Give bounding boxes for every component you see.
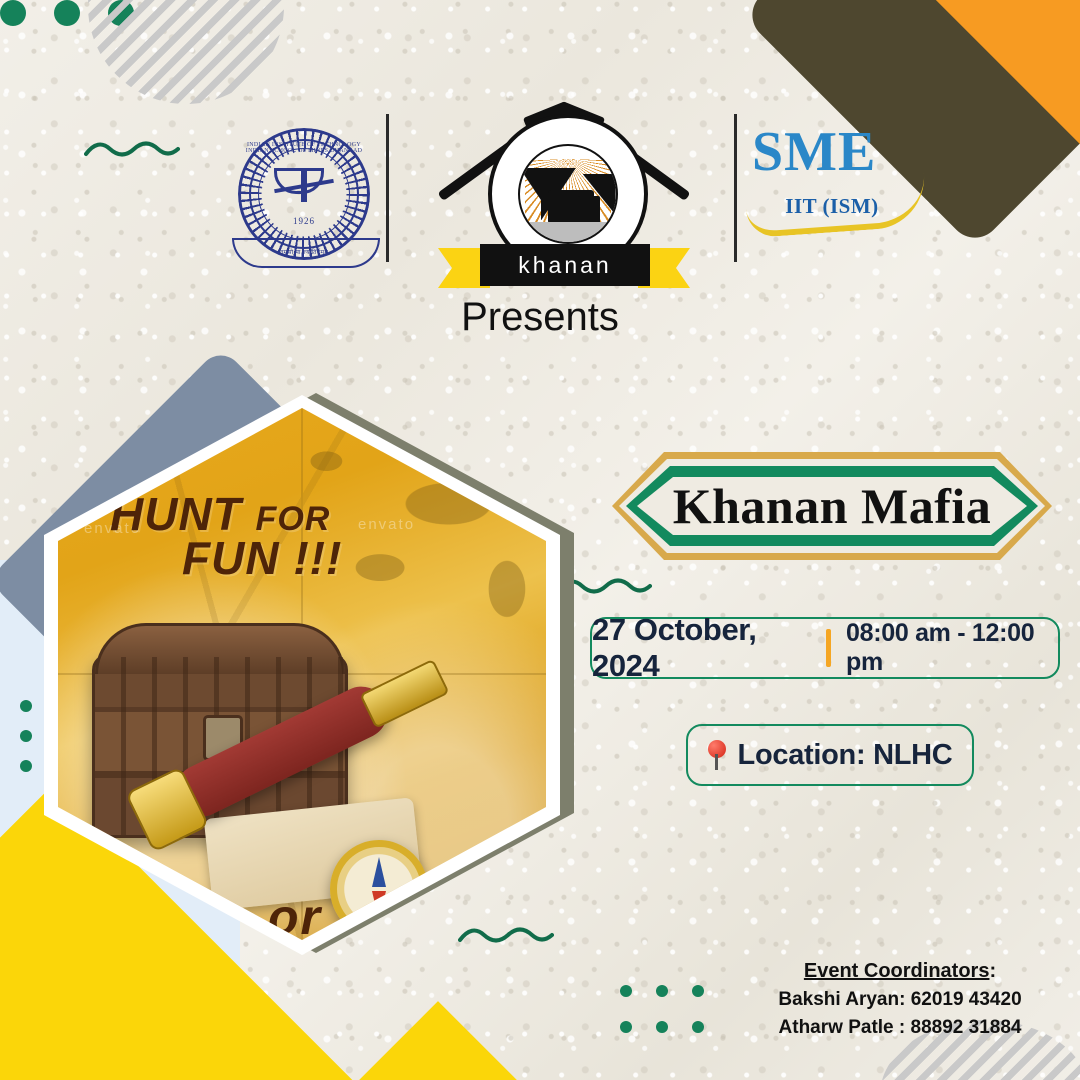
coordinator-entry: Bakshi Aryan: 62019 43420 <box>770 989 1030 1011</box>
event-datetime-bar: 27 October, 2024 08:00 am - 12:00 pm <box>590 617 1060 679</box>
wave-decoration-bottom <box>458 922 554 948</box>
coordinators-heading-colon: : <box>989 960 996 982</box>
page-title: Khanan Mafia <box>612 452 1052 560</box>
datetime-divider <box>826 629 831 667</box>
iit-ism-seal-icon: INDIAN INSTITUTE OF TECHNOLOGY INDIAN SC… <box>238 128 370 260</box>
seal-year-text: 1926 <box>238 216 370 226</box>
event-date: 27 October, 2024 <box>592 612 811 684</box>
coordinator-name: Atharw Patle : <box>779 1017 906 1038</box>
event-location-label: Location: NLHC <box>738 739 953 772</box>
divider-left <box>386 114 389 262</box>
coordinator-phone: 62019 43420 <box>911 989 1022 1010</box>
header-logo-row: INDIAN INSTITUTE OF TECHNOLOGY INDIAN SC… <box>0 86 1080 326</box>
photo-headline: HUNT FOR FUN !!! <box>110 492 440 580</box>
event-poster: INDIAN INSTITUTE OF TECHNOLOGY INDIAN SC… <box>0 0 1080 1080</box>
divider-right <box>734 114 737 262</box>
khanan-banner-text: khanan <box>480 244 650 286</box>
coordinator-name: Bakshi Aryan: <box>778 989 905 1010</box>
event-time: 08:00 am - 12:00 pm <box>846 619 1058 677</box>
coordinator-entry: Atharw Patle : 88892 31884 <box>770 1017 1030 1039</box>
event-location-pill: Location: NLHC <box>686 724 974 786</box>
coordinators-heading: Event Coordinators: <box>770 960 1030 983</box>
map-pin-icon <box>708 740 726 770</box>
presents-label: Presents <box>0 295 1080 340</box>
headline-word-fun: FUN !!! <box>110 536 440 580</box>
coordinators-heading-text: Event Coordinators <box>804 960 990 982</box>
khanan-logo-icon: khanan <box>432 96 696 296</box>
event-title-badge: Khanan Mafia <box>612 452 1052 560</box>
coordinator-phone: 88892 31884 <box>911 1017 1022 1038</box>
dot-grid-bottom <box>620 985 704 1033</box>
sme-logo-icon: SME IIT (ISM) <box>752 124 912 244</box>
yellow-accent-decoration <box>353 1001 523 1080</box>
sme-main-text: SME <box>752 124 912 180</box>
event-coordinators-block: Event Coordinators: Bakshi Aryan: 62019 … <box>770 960 1030 1039</box>
seal-top-text: INDIAN INSTITUTE OF TECHNOLOGY INDIAN SC… <box>238 142 370 154</box>
